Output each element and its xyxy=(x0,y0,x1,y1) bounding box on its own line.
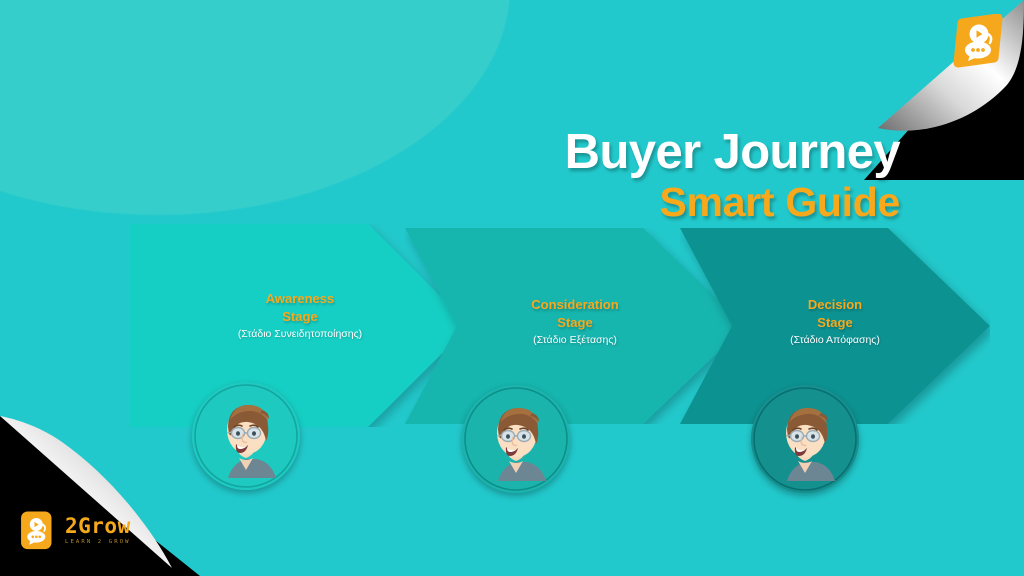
g-logo-icon xyxy=(16,508,58,554)
brand-tagline: LEARN 2 GROW xyxy=(65,540,131,546)
brand-name: 2Grow xyxy=(65,516,131,537)
avatar-illustration xyxy=(751,385,859,493)
stage-avatar-awareness[interactable] xyxy=(192,382,300,490)
brand-logo-bottom-left[interactable]: 2Grow LEARN 2 GROW xyxy=(16,508,131,554)
page-title-block: Buyer Journey Smart Guide xyxy=(565,128,900,223)
brand-logo-mark-top-right[interactable] xyxy=(948,14,1006,77)
slide-canvas: Awareness Stage (Στάδιο Συνειδητοποίησης… xyxy=(0,0,1024,576)
page-subtitle: Smart Guide xyxy=(565,182,900,223)
page-title: Buyer Journey xyxy=(565,128,900,177)
brand-wordmark: 2Grow LEARN 2 GROW xyxy=(65,516,131,546)
stage-avatar-consideration[interactable] xyxy=(462,385,570,493)
g-logo-icon xyxy=(948,14,1006,72)
avatar-illustration xyxy=(462,385,570,493)
stage-avatar-decision[interactable] xyxy=(751,385,859,493)
avatar-illustration xyxy=(192,382,300,490)
